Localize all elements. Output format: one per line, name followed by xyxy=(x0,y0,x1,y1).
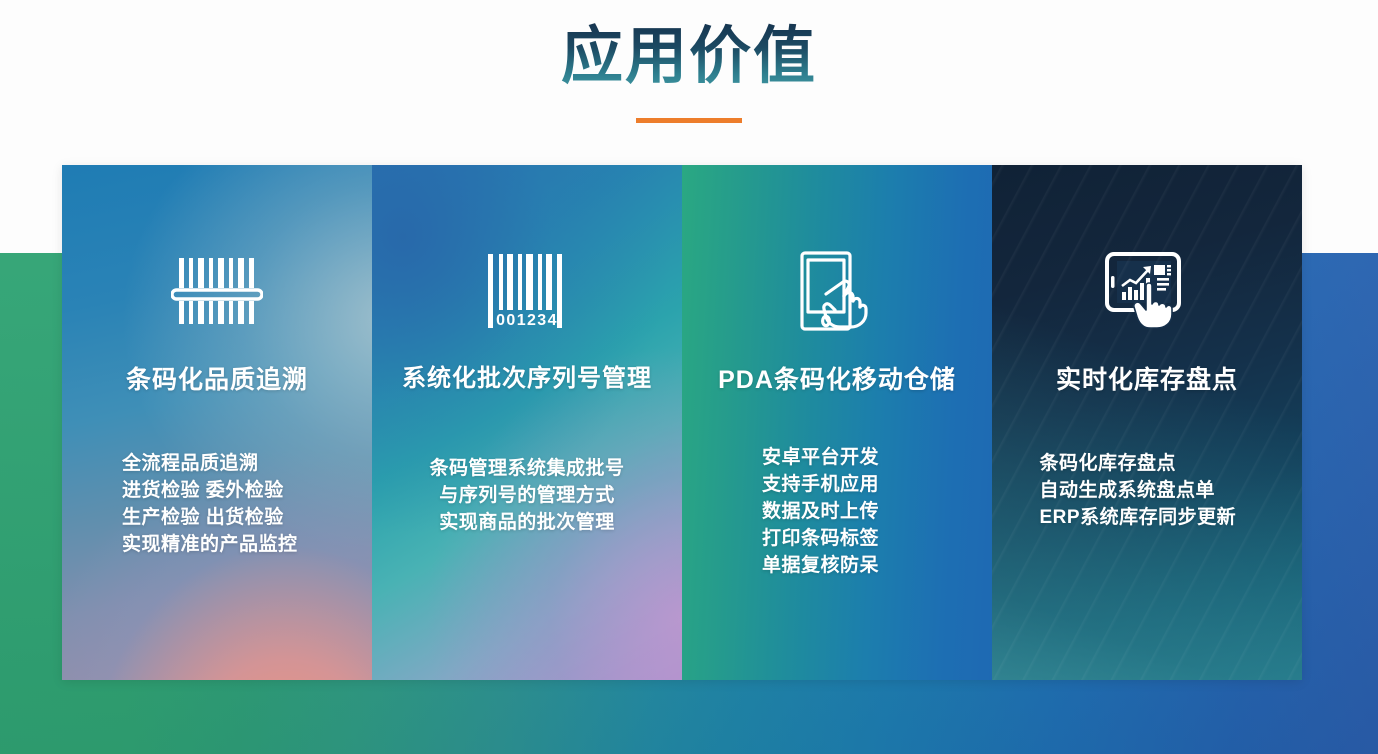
card-body-line: 单据复核防呆 xyxy=(762,553,912,580)
card-title: PDA条码化移动仓储 xyxy=(718,365,956,395)
card-body-line: 打印条码标签 xyxy=(762,526,912,553)
card-body-line: 安卓平台开发 xyxy=(762,445,912,472)
barcode-scanner-icon xyxy=(171,253,263,329)
card-body-line: 实现精准的产品监控 xyxy=(122,532,312,559)
title-underline-rule xyxy=(636,118,742,123)
card-body-line: 条码管理系统集成批号 xyxy=(403,456,651,483)
pda-touch-icon xyxy=(799,253,875,329)
card-body-line: 全流程品质追溯 xyxy=(122,451,312,478)
card-body-line: ERP系统库存同步更新 xyxy=(1040,505,1255,532)
card-body-line: 支持手机应用 xyxy=(762,472,912,499)
card-body-line: 条码化库存盘点 xyxy=(1040,451,1255,478)
feature-card-batch-serial[interactable]: 001234 系统化批次序列号管理 条码管理系统集成批号 与序列号的管理方式 实… xyxy=(372,165,682,680)
feature-card-pda-warehouse[interactable]: PDA条码化移动仓储 安卓平台开发 支持手机应用 数据及时上传 打印条码标签 单… xyxy=(682,165,992,680)
barcode-digits: 001234 xyxy=(496,312,558,328)
card-body-line: 进货检验 委外检验 xyxy=(122,478,312,505)
card-title: 条码化品质追溯 xyxy=(126,365,308,395)
card-body-line: 实现商品的批次管理 xyxy=(403,510,651,537)
barcode-number-icon: 001234 xyxy=(486,253,568,329)
card-body: 条码管理系统集成批号 与序列号的管理方式 实现商品的批次管理 xyxy=(403,456,651,537)
tablet-chart-touch-icon xyxy=(1105,253,1189,329)
card-title: 系统化批次序列号管理 xyxy=(402,365,652,394)
page-title: 应用价值 xyxy=(561,18,817,96)
card-body: 全流程品质追溯 进货检验 委外检验 生产检验 出货检验 实现精准的产品监控 xyxy=(122,451,312,559)
diagonal-streak-overlay xyxy=(992,165,1302,680)
card-title: 实时化库存盘点 xyxy=(1056,365,1238,395)
application-value-section: 应用价值 xyxy=(0,0,1378,754)
card-body-line: 自动生成系统盘点单 xyxy=(1040,478,1255,505)
card-body: 安卓平台开发 支持手机应用 数据及时上传 打印条码标签 单据复核防呆 xyxy=(762,445,912,580)
card-body-line: 生产检验 出货检验 xyxy=(122,505,312,532)
card-body-line: 与序列号的管理方式 xyxy=(403,483,651,510)
feature-card-barcode-quality[interactable]: 条码化品质追溯 全流程品质追溯 进货检验 委外检验 生产检验 出货检验 实现精准… xyxy=(62,165,372,680)
feature-card-row: 条码化品质追溯 全流程品质追溯 进货检验 委外检验 生产检验 出货检验 实现精准… xyxy=(62,165,1302,680)
card-body-line: 数据及时上传 xyxy=(762,499,912,526)
card-body: 条码化库存盘点 自动生成系统盘点单 ERP系统库存同步更新 xyxy=(1040,451,1255,532)
feature-card-realtime-stocktake[interactable]: 实时化库存盘点 条码化库存盘点 自动生成系统盘点单 ERP系统库存同步更新 xyxy=(992,165,1302,680)
